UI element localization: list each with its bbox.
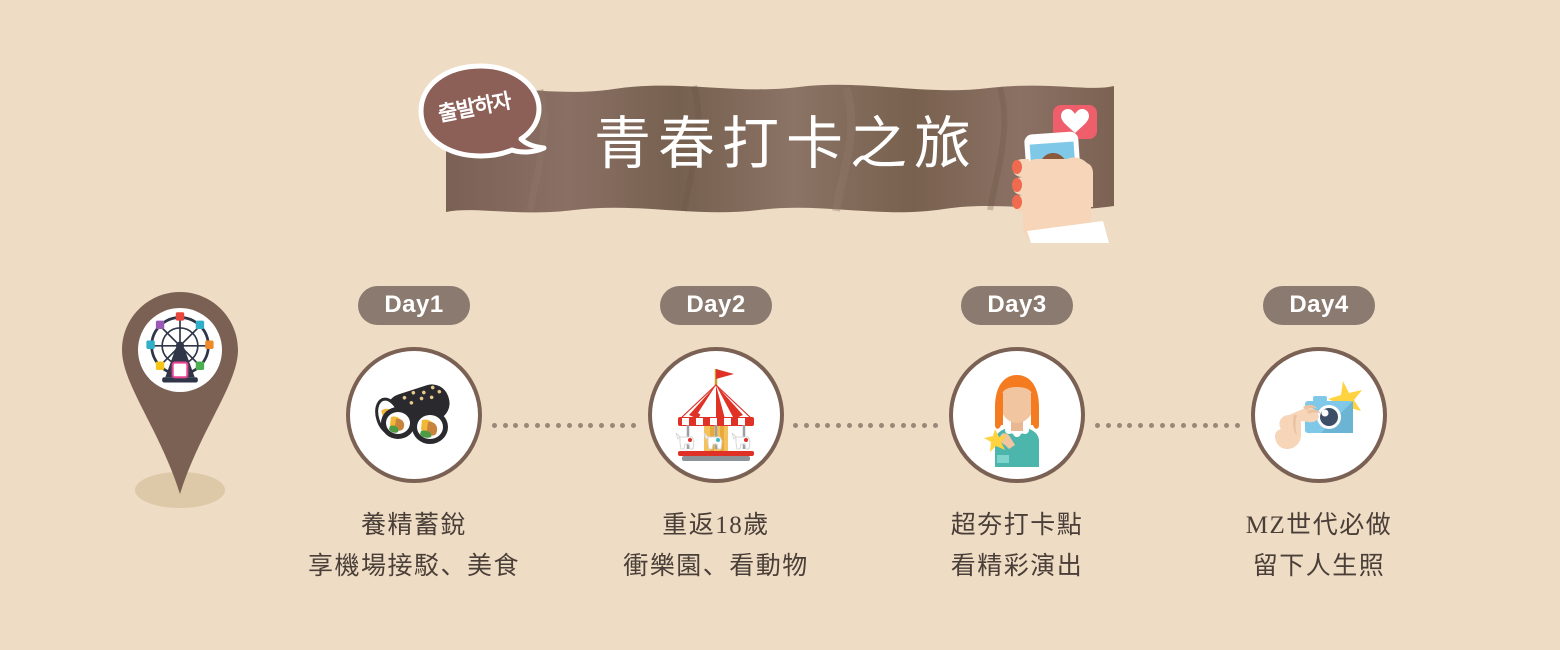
day-badge-3[interactable]: Day3 xyxy=(961,286,1072,325)
day-caption-1: 養精蓄銳 享機場接駁、美食 xyxy=(304,505,524,588)
hand-holding-phone-icon xyxy=(1005,103,1125,243)
day-icon-circle-2[interactable] xyxy=(648,347,784,483)
speech-bubble-shape xyxy=(413,61,553,169)
carousel-icon xyxy=(664,363,768,467)
day-icon-circle-4[interactable] xyxy=(1251,347,1387,483)
day-icon-circle-1[interactable] xyxy=(346,347,482,483)
day-badge-4[interactable]: Day4 xyxy=(1263,286,1374,325)
map-pin-ferris-wheel xyxy=(110,288,250,520)
day-caption-3: 超夯打卡點 看精彩演出 xyxy=(907,505,1127,588)
page-title: 青春打卡之旅 xyxy=(594,116,974,173)
gimbap-roll-icon xyxy=(360,361,468,469)
timeline-day-3[interactable]: Day3 xyxy=(907,286,1127,588)
day-icon-circle-3[interactable] xyxy=(949,347,1085,483)
timeline-day-1[interactable]: Day1 xyxy=(304,286,524,588)
speech-bubble: 출발하자 xyxy=(413,61,553,169)
timeline-day-2[interactable]: Day2 xyxy=(606,286,826,588)
day-caption-1-line1: 養精蓄銳 xyxy=(304,505,524,546)
day-caption-1-line2: 享機場接駁、美食 xyxy=(304,546,524,587)
day-caption-2-line2: 衝樂園、看動物 xyxy=(606,546,826,587)
infographic-canvas: 青春打卡之旅 출발하자 xyxy=(0,0,1560,650)
timeline-day-4[interactable]: Day4 MZ世代必做 留下人生照 xyxy=(1209,286,1429,588)
performer-woman-icon xyxy=(965,363,1069,467)
day-caption-4: MZ世代必做 留下人生照 xyxy=(1209,505,1429,588)
day-badge-2[interactable]: Day2 xyxy=(660,286,771,325)
day-caption-3-line2: 看精彩演出 xyxy=(907,546,1127,587)
day-caption-3-line1: 超夯打卡點 xyxy=(907,505,1127,546)
day-badge-1[interactable]: Day1 xyxy=(358,286,469,325)
day-caption-2-line1: 重返18歲 xyxy=(606,505,826,546)
day-caption-2: 重返18歲 衝樂園、看動物 xyxy=(606,505,826,588)
day-caption-4-line2: 留下人生照 xyxy=(1209,546,1429,587)
day-caption-4-line1: MZ世代必做 xyxy=(1209,505,1429,546)
hand-holding-camera-icon xyxy=(1267,363,1371,467)
